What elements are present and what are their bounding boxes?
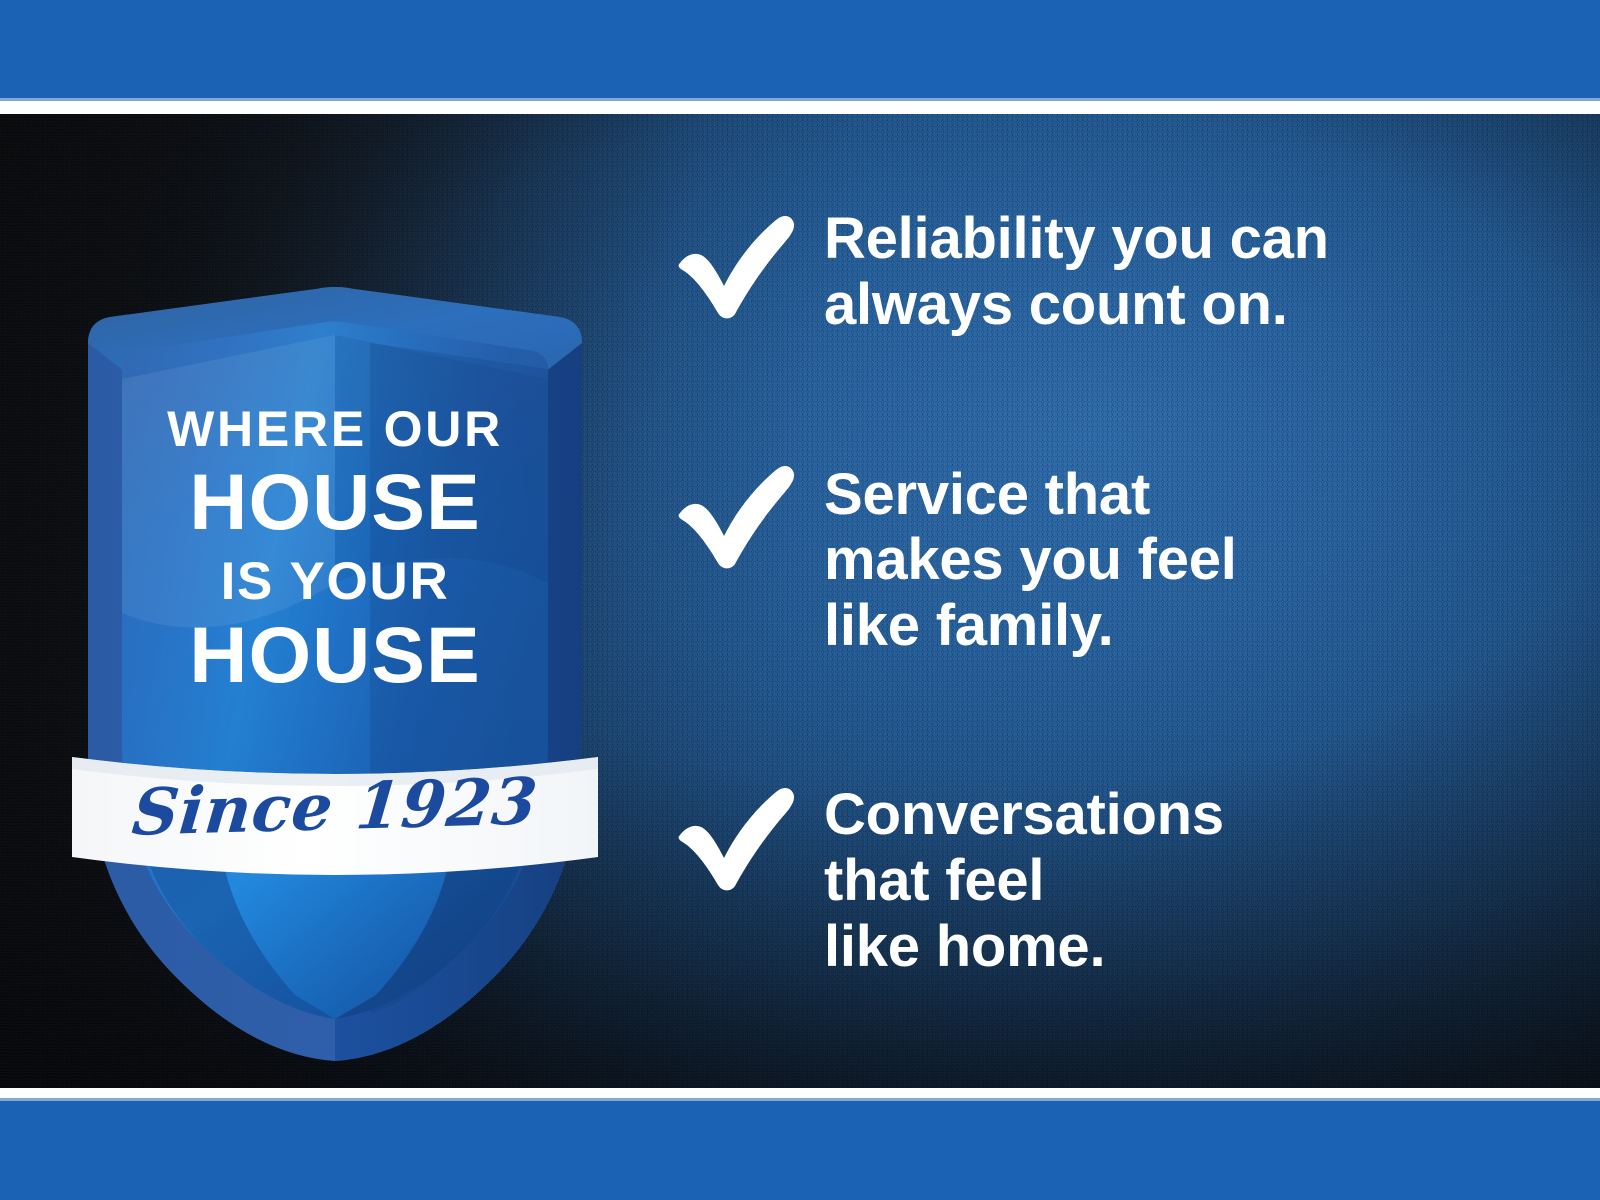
- brand-bar-top-rule: [0, 98, 1600, 101]
- list-item-label: Service that makes you feel like family.: [824, 452, 1237, 659]
- main-canvas: Where Our House Is Your House Since 1923…: [0, 114, 1600, 1088]
- badge-line-3: Is Your: [70, 555, 600, 608]
- list-item: Service that makes you feel like family.: [672, 452, 1502, 659]
- benefits-list: Reliability you can always count on. Ser…: [672, 202, 1502, 980]
- list-item-label: Conversations that feel like home.: [824, 774, 1224, 979]
- checkmark-icon: [672, 458, 800, 570]
- list-item-label: Reliability you can always count on.: [824, 202, 1329, 338]
- shield-badge: Where Our House Is Your House Since 1923: [70, 283, 600, 1063]
- list-item: Conversations that feel like home.: [672, 774, 1502, 979]
- checkmark-icon: [672, 208, 800, 320]
- badge-line-2: House: [65, 462, 606, 541]
- brand-bar-top: [0, 0, 1600, 98]
- list-item: Reliability you can always count on.: [672, 202, 1502, 338]
- banner-stage: Where Our House Is Your House Since 1923…: [0, 0, 1600, 1200]
- badge-since-text: Since 1923: [67, 769, 603, 848]
- badge-line-1: Where Our: [70, 404, 600, 454]
- checkmark-icon: [672, 780, 800, 892]
- brand-bar-bottom: [0, 1101, 1600, 1200]
- badge-line-4: House: [65, 615, 606, 694]
